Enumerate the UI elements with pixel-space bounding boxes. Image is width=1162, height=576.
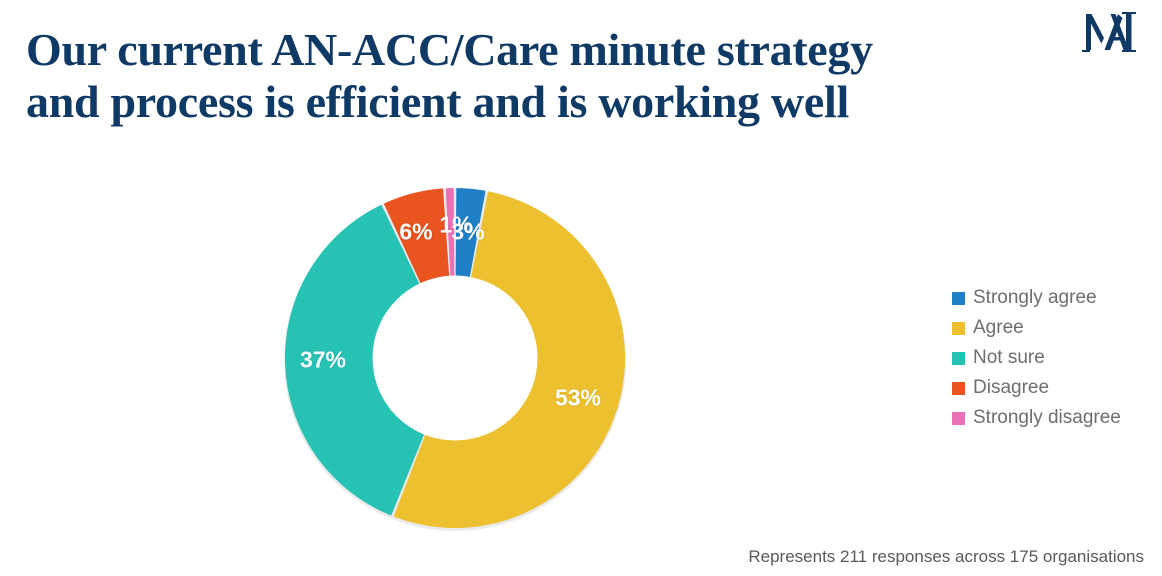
legend-swatch-icon — [952, 382, 965, 395]
slice-label-not-sure: 37% — [300, 349, 346, 372]
legend-item-label: Strongly disagree — [973, 407, 1121, 429]
legend-swatch-icon — [952, 412, 965, 425]
legend-item-disagree[interactable]: Disagree — [952, 373, 1152, 403]
legend-item-label: Disagree — [973, 377, 1049, 399]
donut-chart: 1% 6% 3% 37% 53% — [281, 184, 629, 532]
legend-item-strongly-agree[interactable]: Strongly agree — [952, 283, 1152, 313]
slide-canvas: Our current AN-ACC/Care minute strategy … — [0, 0, 1162, 576]
chart-legend: Strongly agree Agree Not sure Disagree S… — [952, 283, 1152, 433]
slice-label-strongly-agree: 3% — [451, 221, 484, 244]
legend-item-not-sure[interactable]: Not sure — [952, 343, 1152, 373]
ma-monogram-logo — [1080, 8, 1142, 54]
legend-item-strongly-disagree[interactable]: Strongly disagree — [952, 403, 1152, 433]
legend-swatch-icon — [952, 292, 965, 305]
legend-item-agree[interactable]: Agree — [952, 313, 1152, 343]
slice-label-agree: 53% — [555, 387, 601, 410]
footnote-text: Represents 211 responses across 175 orga… — [748, 546, 1144, 568]
legend-item-label: Agree — [973, 317, 1024, 339]
legend-item-label: Not sure — [973, 347, 1045, 369]
legend-item-label: Strongly agree — [973, 287, 1097, 309]
slice-label-disagree: 6% — [399, 221, 432, 244]
page-title: Our current AN-ACC/Care minute strategy … — [26, 24, 1066, 128]
legend-swatch-icon — [952, 322, 965, 335]
donut-hole — [373, 276, 538, 441]
legend-swatch-icon — [952, 352, 965, 365]
